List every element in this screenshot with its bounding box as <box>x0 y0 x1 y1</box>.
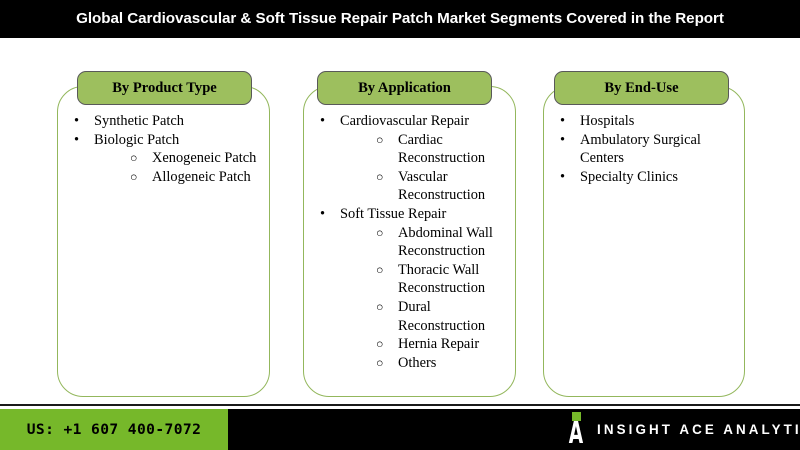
list-item: ○Allogeneic Patch <box>116 168 270 187</box>
list-item: •Soft Tissue Repair○Abdominal Wall Recon… <box>308 205 520 372</box>
bullet-circle-icon: ○ <box>376 168 383 187</box>
list-item: ○Xenogeneic Patch <box>116 149 270 168</box>
bullet-circle-icon: ○ <box>130 149 137 168</box>
segment-header-application: By Application <box>317 71 492 105</box>
list-item: ○Cardiac Reconstruction <box>362 131 520 168</box>
list-item-label: Abdominal Wall Reconstruction <box>398 224 520 261</box>
segment-header-product-type: By Product Type <box>77 71 252 105</box>
list-item-label: Biologic Patch <box>94 131 270 150</box>
brand-logo-icon: A <box>563 412 589 448</box>
list-item: ○Hernia Repair <box>362 335 520 354</box>
slide-canvas: Global Cardiovascular & Soft Tissue Repa… <box>0 0 800 450</box>
list-item: •Cardiovascular Repair○Cardiac Reconstru… <box>308 112 520 205</box>
list-item-label: Xenogeneic Patch <box>152 149 270 168</box>
list-item: ○Abdominal Wall Reconstruction <box>362 224 520 261</box>
list-item-label: Soft Tissue Repair <box>340 205 520 224</box>
list-item: •Specialty Clinics <box>548 168 748 187</box>
footer-divider <box>0 404 800 406</box>
list-item-label: Thoracic Wall Reconstruction <box>398 261 520 298</box>
list-item-label: Vascular Reconstruction <box>398 168 520 205</box>
brand-name: INSIGHT ACE ANALYTIC <box>597 409 800 450</box>
bullet-circle-icon: ○ <box>376 354 383 373</box>
list-item-label: Dural Reconstruction <box>398 298 520 335</box>
list-item: ○Vascular Reconstruction <box>362 168 520 205</box>
bullet-dot-icon: • <box>74 112 79 131</box>
bullet-circle-icon: ○ <box>130 168 137 187</box>
bullet-list-level-1: •Synthetic Patch•Biologic Patch○Xenogene… <box>62 112 270 186</box>
bullet-dot-icon: • <box>74 131 79 150</box>
segment-list-end-use: •Hospitals•Ambulatory Surgical Centers•S… <box>548 112 748 186</box>
bullet-list-level-2: ○Cardiac Reconstruction○Vascular Reconst… <box>362 131 520 205</box>
segment-list-product-type: •Synthetic Patch•Biologic Patch○Xenogene… <box>62 112 270 186</box>
list-item-label: Others <box>398 354 520 373</box>
contact-phone-number[interactable]: US: +1 607 400-7072 <box>0 409 228 450</box>
bullet-list-level-1: •Hospitals•Ambulatory Surgical Centers•S… <box>548 112 748 186</box>
bullet-dot-icon: • <box>320 205 325 224</box>
segment-list-application: •Cardiovascular Repair○Cardiac Reconstru… <box>308 112 520 372</box>
bullet-circle-icon: ○ <box>376 261 383 280</box>
bullet-circle-icon: ○ <box>376 298 383 317</box>
bullet-circle-icon: ○ <box>376 224 383 243</box>
list-item: ○Dural Reconstruction <box>362 298 520 335</box>
list-item-label: Ambulatory Surgical Centers <box>580 131 748 168</box>
list-item: •Biologic Patch○Xenogeneic Patch○Allogen… <box>62 131 270 187</box>
list-item-label: Hernia Repair <box>398 335 520 354</box>
title-bar: Global Cardiovascular & Soft Tissue Repa… <box>0 0 800 38</box>
bullet-list-level-1: •Cardiovascular Repair○Cardiac Reconstru… <box>308 112 520 372</box>
list-item-label: Hospitals <box>580 112 748 131</box>
list-item: ○Thoracic Wall Reconstruction <box>362 261 520 298</box>
bullet-dot-icon: • <box>560 112 565 131</box>
logo-letter-a: A <box>568 420 584 448</box>
bullet-circle-icon: ○ <box>376 335 383 354</box>
segment-header-end-use: By End-Use <box>554 71 729 105</box>
list-item: ○Others <box>362 354 520 373</box>
list-item: •Ambulatory Surgical Centers <box>548 131 748 168</box>
list-item-label: Synthetic Patch <box>94 112 270 131</box>
bullet-circle-icon: ○ <box>376 131 383 150</box>
bullet-list-level-2: ○Xenogeneic Patch○Allogeneic Patch <box>116 149 270 186</box>
list-item-label: Allogeneic Patch <box>152 168 270 187</box>
list-item: •Synthetic Patch <box>62 112 270 131</box>
list-item-label: Cardiac Reconstruction <box>398 131 520 168</box>
bullet-dot-icon: • <box>560 131 565 150</box>
list-item-label: Specialty Clinics <box>580 168 748 187</box>
list-item: •Hospitals <box>548 112 748 131</box>
list-item-label: Cardiovascular Repair <box>340 112 520 131</box>
bullet-dot-icon: • <box>560 168 565 187</box>
page-title: Global Cardiovascular & Soft Tissue Repa… <box>0 0 800 38</box>
bullet-dot-icon: • <box>320 112 325 131</box>
bullet-list-level-2: ○Abdominal Wall Reconstruction○Thoracic … <box>362 224 520 373</box>
